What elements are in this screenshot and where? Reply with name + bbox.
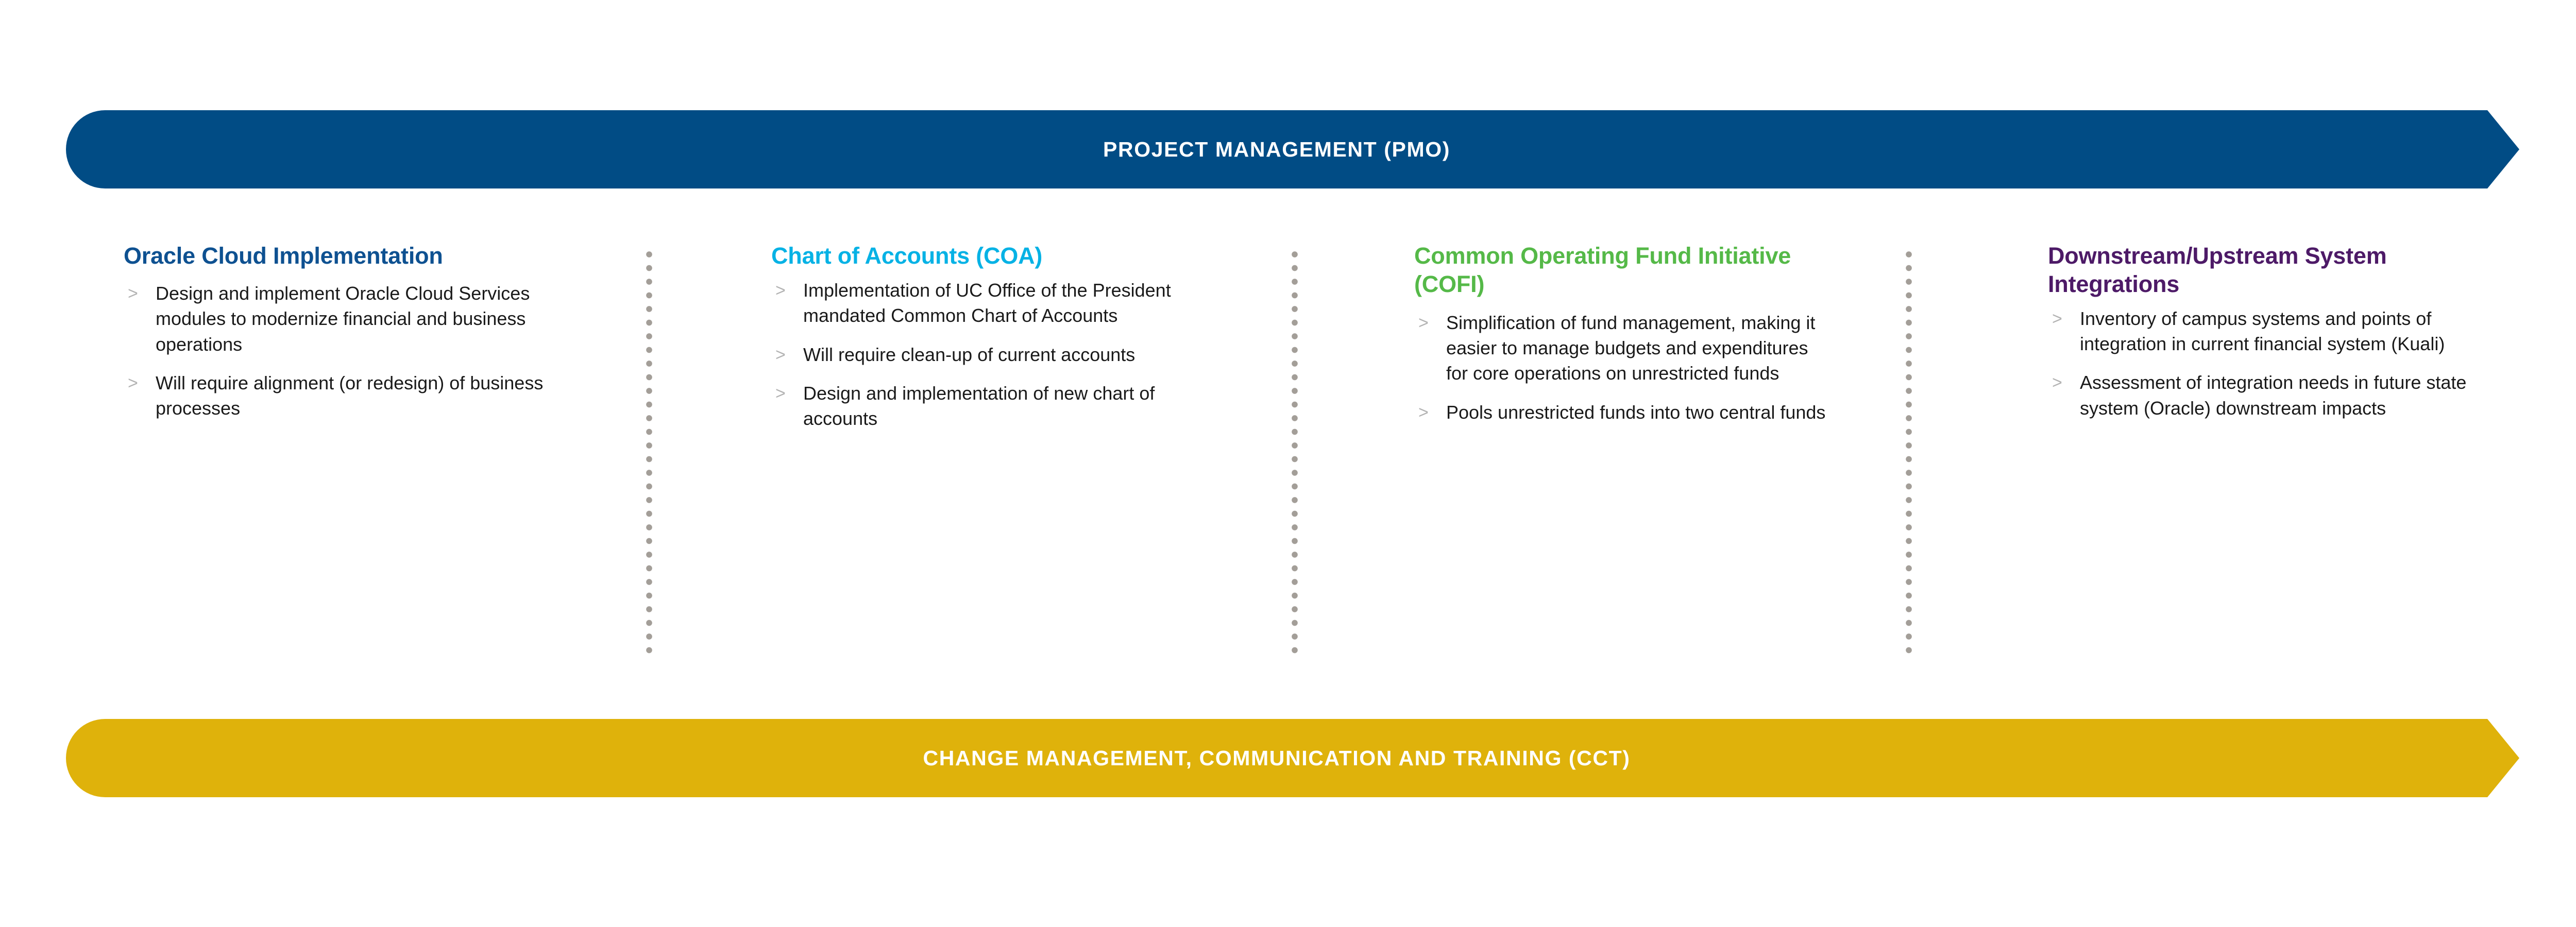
project-management-banner: PROJECT MANAGEMENT (PMO): [66, 110, 2519, 188]
workstream-column-oracle-cloud-implementation: Oracle Cloud Implementation > Design and…: [124, 242, 567, 421]
list-item: > Simplification of fund management, mak…: [1414, 310, 1826, 386]
change-management-banner-label: CHANGE MANAGEMENT, COMMUNICATION AND TRA…: [923, 746, 1631, 770]
chevron-right-icon: >: [2052, 371, 2062, 395]
chevron-right-icon: >: [1418, 311, 1429, 335]
chevron-right-icon: >: [1418, 401, 1429, 425]
list-item: > Will require alignment (or redesign) o…: [124, 370, 567, 421]
workstream-column-downstream-upstream-system-integrations: Downstream/Upstream System Integrations …: [2048, 242, 2476, 421]
banner-arrow-tip-icon: [2487, 110, 2519, 188]
column-divider-dotted: [646, 251, 653, 660]
list-item-text: Assessment of integration needs in futur…: [2080, 372, 2466, 418]
column-divider-dotted: [1905, 251, 1912, 660]
list-item-text: Will require clean-up of current account…: [803, 344, 1135, 365]
list-item-text: Will require alignment (or redesign) of …: [156, 372, 543, 419]
bullet-list-common-operating-fund-initiative: > Simplification of fund management, mak…: [1414, 310, 1826, 425]
chevron-right-icon: >: [775, 279, 786, 303]
bullet-list-chart-of-accounts: > Implementation of UC Office of the Pre…: [771, 278, 1199, 432]
chevron-right-icon: >: [128, 371, 138, 396]
banner-arrow-tip-icon: [2487, 719, 2519, 797]
list-item-text: Design and implementation of new chart o…: [803, 383, 1155, 429]
chevron-right-icon: >: [775, 343, 786, 367]
list-item-text: Design and implement Oracle Cloud Servic…: [156, 283, 530, 355]
workstream-columns: Oracle Cloud Implementation > Design and…: [0, 242, 2576, 669]
chevron-right-icon: >: [775, 382, 786, 406]
column-heading-oracle-cloud-implementation: Oracle Cloud Implementation: [124, 242, 567, 270]
list-item: > Will require clean-up of current accou…: [771, 342, 1199, 367]
workstream-column-chart-of-accounts: Chart of Accounts (COA) > Implementation…: [771, 242, 1199, 431]
column-heading-common-operating-fund-initiative: Common Operating Fund Initiative (COFI): [1414, 242, 1826, 299]
bullet-list-oracle-cloud-implementation: > Design and implement Oracle Cloud Serv…: [124, 281, 567, 421]
column-divider-dotted: [1291, 251, 1298, 660]
bullet-list-downstream-upstream-system-integrations: > Inventory of campus systems and points…: [2048, 306, 2476, 421]
change-management-banner: CHANGE MANAGEMENT, COMMUNICATION AND TRA…: [66, 719, 2519, 797]
column-heading-chart-of-accounts: Chart of Accounts (COA): [771, 242, 1199, 270]
list-item: > Assessment of integration needs in fut…: [2048, 370, 2476, 421]
list-item: > Design and implement Oracle Cloud Serv…: [124, 281, 567, 357]
list-item: > Design and implementation of new chart…: [771, 381, 1199, 432]
chevron-right-icon: >: [2052, 307, 2062, 331]
list-item-text: Pools unrestricted funds into two centra…: [1446, 402, 1825, 423]
list-item-text: Inventory of campus systems and points o…: [2080, 308, 2445, 354]
workstream-column-common-operating-fund-initiative: Common Operating Fund Initiative (COFI) …: [1414, 242, 1826, 425]
list-item-text: Implementation of UC Office of the Presi…: [803, 280, 1171, 326]
list-item: > Implementation of UC Office of the Pre…: [771, 278, 1199, 329]
chevron-right-icon: >: [128, 282, 138, 306]
list-item: > Pools unrestricted funds into two cent…: [1414, 400, 1826, 425]
project-management-banner-label: PROJECT MANAGEMENT (PMO): [1103, 138, 1450, 162]
column-heading-downstream-upstream-system-integrations: Downstream/Upstream System Integrations: [2048, 242, 2476, 299]
list-item-text: Simplification of fund management, makin…: [1446, 312, 1815, 384]
list-item: > Inventory of campus systems and points…: [2048, 306, 2476, 357]
